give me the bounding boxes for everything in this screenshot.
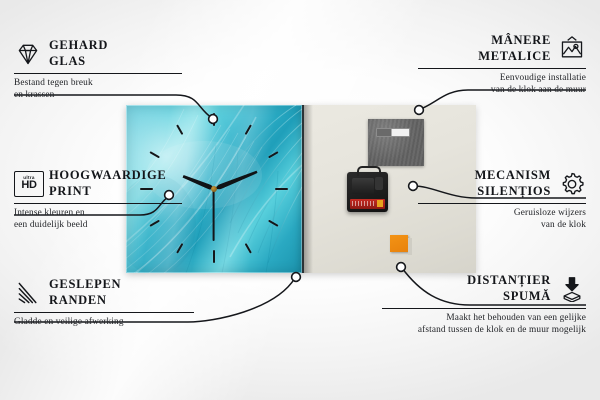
clock-pivot: [211, 186, 217, 192]
callout-desc-line2: afstand tussen de klok en de muur mogeli…: [418, 325, 586, 335]
metal-hanger: [368, 119, 424, 166]
ultra-hd-bottom-label: HD: [21, 180, 36, 191]
callout-desc-line1: Eenvoudige installatie: [500, 73, 586, 83]
foam-spacer-icon: [558, 276, 586, 302]
battery-label: [352, 201, 376, 206]
callout-rule: [14, 203, 182, 204]
back-panel-shadow: [304, 105, 313, 273]
callout-desc-line1: Gladde en veilige afwerking: [14, 317, 124, 327]
callout-gehard-glas: GEHARD GLAS Bestand tegen breuk en krass…: [14, 38, 182, 102]
clock-mechanism: [347, 172, 388, 212]
callout-header: MÂNERE METALICE: [418, 33, 586, 64]
callout-desc-line1: Bestand tegen breuk: [14, 78, 93, 88]
callout-rule: [418, 203, 586, 204]
hanger-slot: [376, 128, 410, 137]
gear-icon: [558, 171, 586, 197]
callout-desc-line1: Intense kleuren en: [14, 208, 85, 218]
battery-terminal: [377, 200, 383, 207]
foam-spacer-side: [408, 238, 412, 255]
callout-title-line2: RANDEN: [49, 293, 107, 307]
callout-rule: [14, 312, 194, 313]
callout-header: ultra HD HOOGWAARDIGE PRINT: [14, 168, 182, 199]
callout-title-line2: SPUMĂ: [503, 289, 551, 303]
callout-title-line1: HOOGWAARDIGE: [49, 168, 166, 182]
mechanism-dial: [352, 178, 374, 194]
clock-hour-hand: [182, 174, 215, 191]
callout-desc-line2: een duidelijk beeld: [14, 220, 88, 230]
callout-header: GEHARD GLAS: [14, 38, 182, 69]
callout-rule: [382, 308, 586, 309]
callout-title-line1: MECANISM: [475, 168, 551, 182]
mechanism-knob: [375, 177, 383, 190]
callout-title-line1: MÂNERE: [491, 33, 551, 47]
callout-rule: [14, 73, 182, 74]
infographic-canvas: GEHARD GLAS Bestand tegen breuk en krass…: [0, 0, 600, 400]
clock-second-hand: [213, 189, 215, 241]
ultra-hd-icon: ultra HD: [14, 171, 42, 197]
callout-header: MECANISM SILENȚIOS: [418, 168, 586, 199]
callout-header: GESLEPEN RANDEN: [14, 277, 194, 308]
callout-title-line1: GEHARD: [49, 38, 108, 52]
callout-desc-line1: Geruisloze wijzers: [514, 208, 586, 218]
callout-title-line2: SILENȚIOS: [477, 184, 551, 198]
callout-title-line1: DISTANȚIER: [467, 273, 551, 287]
callout-manere-metalice: MÂNERE METALICE Eenvoudige installatie v…: [418, 33, 586, 97]
callout-desc-line2: van de klok: [541, 220, 586, 230]
callout-rule: [418, 68, 586, 69]
callout-title-line1: GESLEPEN: [49, 277, 121, 291]
bevelled-edges-icon: [14, 280, 42, 306]
callout-distantier-spuma: DISTANȚIER SPUMĂ Maakt het behouden van …: [382, 273, 586, 337]
callout-title-line2: PRINT: [49, 184, 91, 198]
callout-hoogwaardige-print: ultra HD HOOGWAARDIGE PRINT Intense kleu…: [14, 168, 182, 232]
callout-desc-line2: en krassen: [14, 90, 54, 100]
mechanism-hook: [357, 166, 381, 176]
foam-spacer: [390, 235, 408, 252]
callout-mecanism-silentios: MECANISM SILENȚIOS Geruisloze wijzers va…: [418, 168, 586, 232]
callout-title-line2: METALICE: [478, 49, 551, 63]
callout-desc-line1: Maakt het behouden van een gelijke: [446, 313, 586, 323]
callout-title-line2: GLAS: [49, 54, 86, 68]
picture-hanger-icon: [558, 36, 586, 62]
callout-desc-line2: van de klok aan de muur: [491, 85, 586, 95]
callout-header: DISTANȚIER SPUMĂ: [382, 273, 586, 304]
battery: [350, 199, 385, 209]
callout-geslepen-randen: GESLEPEN RANDEN Gladde en veilige afwerk…: [14, 277, 194, 328]
clock-minute-hand: [213, 169, 258, 191]
diamond-icon: [14, 41, 42, 67]
